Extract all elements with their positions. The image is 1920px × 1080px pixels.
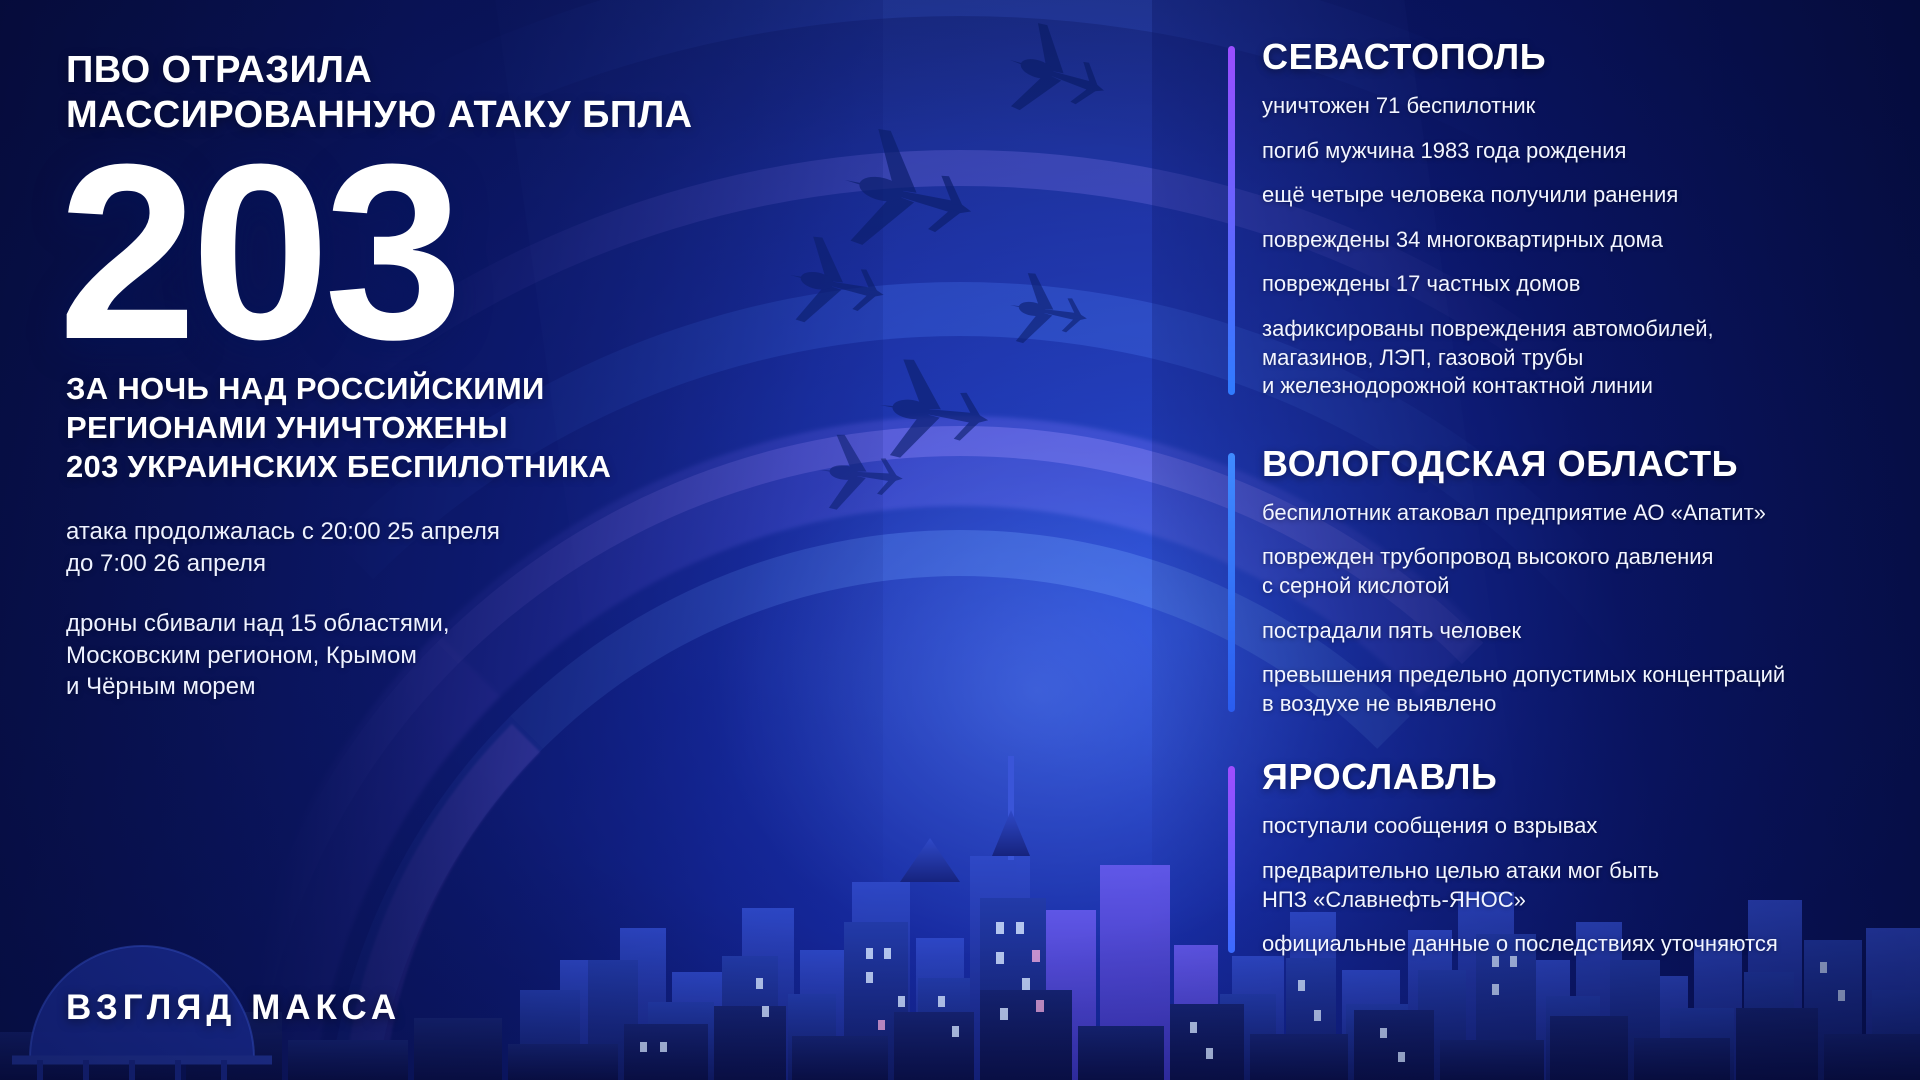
section-fact-list: уничтожен 71 беспилотникпогиб мужчина 19… [1262,92,1888,401]
note-attack-duration: атака продолжалась с 20:00 25 апреля до … [66,516,886,580]
note-attack-regions-line1: дроны сбивали над 15 областями, [66,610,450,637]
list-item: предварительно целью атаки мог бытьНПЗ «… [1262,857,1888,914]
infographic-poster: ПВО ОТРАЗИЛА МАССИРОВАННУЮ АТАКУ БПЛА 20… [0,0,1920,1080]
section-fact-list: поступали сообщения о взрывахпредварител… [1262,812,1888,958]
section-heading: ВОЛОГОДСКАЯ ОБЛАСТЬ [1262,443,1888,485]
list-item: превышения предельно допустимых концентр… [1262,661,1888,718]
list-item: уничтожен 71 беспилотник [1262,92,1888,121]
brand-logo: ВЗГЛЯД МАКСА [66,988,401,1028]
section-вологодская-область: ВОЛОГОДСКАЯ ОБЛАСТЬбеспилотник атаковал … [1228,443,1888,719]
note-attack-duration-line2: до 7:00 26 апреля [66,550,266,577]
list-item: пострадали пять человек [1262,617,1888,646]
right-sections-column: СЕВАСТОПОЛЬуничтожен 71 беспилотникпогиб… [1228,36,1888,985]
page-title-line1: ПВО ОТРАЗИЛА [66,49,372,91]
list-item: погиб мужчина 1983 года рождения [1262,137,1888,166]
section-севастополь: СЕВАСТОПОЛЬуничтожен 71 беспилотникпогиб… [1228,36,1888,401]
section-accent-bar [1228,46,1235,395]
list-item: поступали сообщения о взрывах [1262,812,1888,841]
list-item: официальные данные о последствиях уточня… [1262,930,1888,959]
page-subtitle: ЗА НОЧЬ НАД РОССИЙСКИМИ РЕГИОНАМИ УНИЧТО… [66,369,886,486]
note-attack-regions-line3: и Чёрным морем [66,673,255,700]
note-attack-duration-line1: атака продолжалась с 20:00 25 апреля [66,518,500,545]
page-subtitle-line3: 203 УКРАИНСКИХ БЕСПИЛОТНИКА [66,449,611,484]
left-content-column: ПВО ОТРАЗИЛА МАССИРОВАННУЮ АТАКУ БПЛА 20… [66,48,886,703]
note-attack-regions-line2: Московским регионом, Крымом [66,642,417,669]
list-item: повреждены 34 многоквартирных дома [1262,226,1888,255]
section-heading: ЯРОСЛАВЛЬ [1262,756,1888,798]
section-fact-list: беспилотник атаковал предприятие АО «Апа… [1262,499,1888,719]
section-accent-bar [1228,453,1235,713]
page-subtitle-line2: РЕГИОНАМИ УНИЧТОЖЕНЫ [66,410,508,445]
list-item: ещё четыре человека получили ранения [1262,181,1888,210]
list-item: зафиксированы повреждения автомобилей,ма… [1262,315,1888,401]
page-subtitle-line1: ЗА НОЧЬ НАД РОССИЙСКИМИ [66,371,545,406]
list-item: беспилотник атаковал предприятие АО «Апа… [1262,499,1888,528]
big-number: 203 [58,144,886,359]
section-ярославль: ЯРОСЛАВЛЬпоступали сообщения о взрывахпр… [1228,756,1888,958]
section-accent-bar [1228,766,1235,952]
list-item: повреждены 17 частных домов [1262,270,1888,299]
section-heading: СЕВАСТОПОЛЬ [1262,36,1888,78]
list-item: поврежден трубопровод высокого давленияс… [1262,543,1888,600]
note-attack-regions: дроны сбивали над 15 областями, Московск… [66,608,886,704]
